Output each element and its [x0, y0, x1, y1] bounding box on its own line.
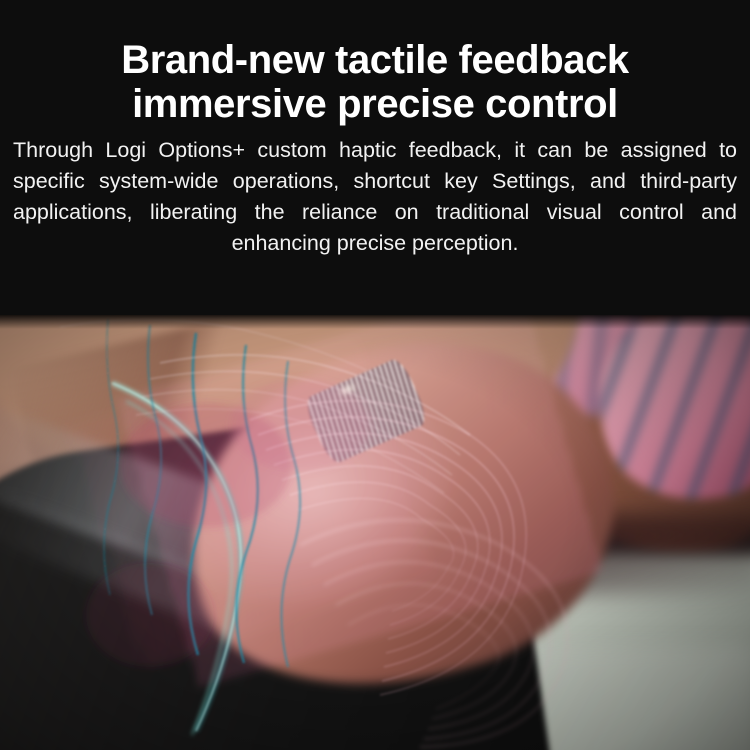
light-trail-overlay	[0, 315, 750, 750]
page-title: Brand-new tactile feedback immersive pre…	[0, 38, 750, 126]
product-photo	[0, 315, 750, 750]
photo-top-fade	[0, 315, 750, 329]
text-panel: Brand-new tactile feedback immersive pre…	[0, 0, 750, 315]
description-paragraph: Through Logi Options+ custom haptic feed…	[13, 135, 737, 259]
magenta-glow	[86, 379, 370, 667]
promo-banner: Brand-new tactile feedback immersive pre…	[0, 0, 750, 750]
